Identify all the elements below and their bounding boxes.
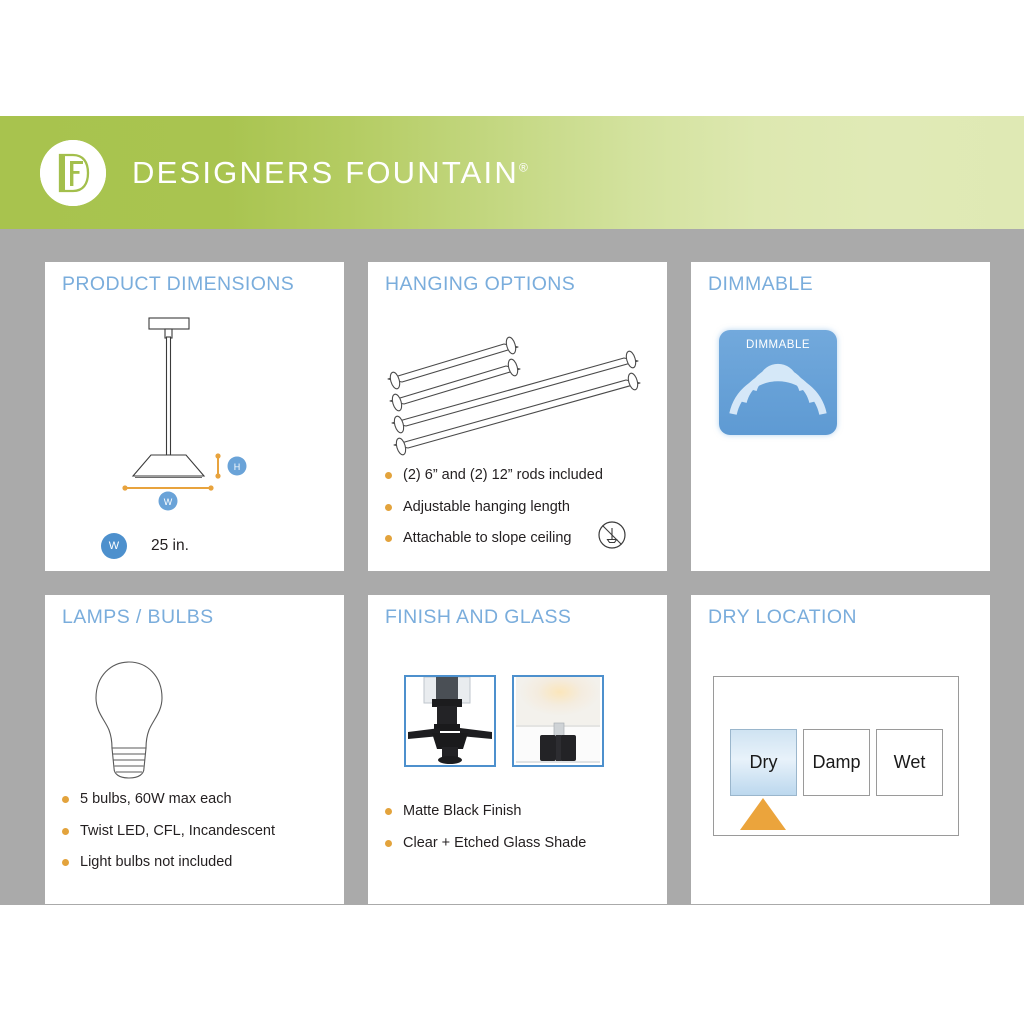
card-dry-location: DRY LOCATION Dry Damp Wet (691, 595, 990, 904)
brand-name-text: DESIGNERS FOUNTAIN (132, 155, 519, 190)
lamps-bullet-list: 5 bulbs, 60W max each Twist LED, CFL, In… (62, 791, 334, 886)
bullet-dot-icon (385, 808, 392, 815)
location-option-damp[interactable]: Damp (803, 729, 870, 796)
svg-text:H: H (234, 462, 241, 472)
card-title-dry-location: DRY LOCATION (708, 606, 857, 629)
card-title-lamps-bulbs: LAMPS / BULBS (62, 606, 214, 629)
location-option-row: Dry Damp Wet (730, 729, 943, 796)
width-badge: W (101, 533, 127, 559)
card-title-dimmable: DIMMABLE (708, 273, 813, 296)
list-item: 5 bulbs, 60W max each (62, 791, 334, 808)
bullet-text: Attachable to slope ceiling (403, 530, 571, 547)
list-item: Twist LED, CFL, Incandescent (62, 823, 334, 840)
width-value: 25 in. (151, 537, 189, 555)
bullet-dot-icon (62, 828, 69, 835)
bullet-dot-icon (62, 796, 69, 803)
spec-card-grid: PRODUCT DIMENSIONS (45, 262, 990, 904)
location-rating-box: Dry Damp Wet (713, 676, 959, 836)
dimmable-badge-icon: DIMMABLE (719, 330, 837, 435)
dimension-value-list: W 25 in. H 17 3/4 in. (101, 528, 215, 571)
location-option-wet[interactable]: Wet (876, 729, 943, 796)
bullet-text: Matte Black Finish (403, 803, 521, 820)
bullet-text: 5 bulbs, 60W max each (80, 791, 232, 808)
selected-location-pointer-icon (740, 798, 786, 830)
list-item: Light bulbs not included (62, 854, 334, 871)
card-dimmable: DIMMABLE DIMMABLE (691, 262, 990, 571)
bullet-text: Adjustable hanging length (403, 499, 570, 516)
card-title-finish-and-glass: FINISH AND GLASS (385, 606, 571, 629)
slope-ceiling-icon (597, 520, 627, 555)
list-item: Matte Black Finish (385, 803, 657, 820)
bullet-dot-icon (385, 472, 392, 479)
finish-thumbnail-group (404, 675, 604, 767)
bullet-dot-icon (385, 840, 392, 847)
light-bulb-illustration (45, 650, 344, 795)
card-title-product-dimensions: PRODUCT DIMENSIONS (62, 273, 294, 296)
bullet-text: (2) 6” and (2) 12” rods included (403, 467, 603, 484)
bullet-text: Light bulbs not included (80, 854, 232, 871)
svg-text:W: W (164, 497, 173, 507)
product-spec-sheet: DESIGNERS FOUNTAIN® PRODUCT DIMENSIONS (0, 0, 1024, 1024)
bullet-text: Twist LED, CFL, Incandescent (80, 823, 275, 840)
bullet-text: Clear + Etched Glass Shade (403, 835, 586, 852)
list-item: Clear + Etched Glass Shade (385, 835, 657, 852)
location-option-dry[interactable]: Dry (730, 729, 797, 796)
bullet-dot-icon (385, 535, 392, 542)
card-lamps-bulbs: LAMPS / BULBS (45, 595, 344, 904)
bullet-dot-icon (385, 504, 392, 511)
designers-fountain-logo-icon (40, 140, 106, 206)
pendant-dimension-diagram: H W (45, 304, 344, 519)
etched-glass-shade-thumbnail[interactable] (512, 675, 604, 767)
dimension-row-width: W 25 in. (101, 528, 215, 564)
bullet-dot-icon (62, 859, 69, 866)
registered-mark: ® (519, 160, 528, 174)
card-finish-and-glass: FINISH AND GLASS (368, 595, 667, 904)
finish-bullet-list: Matte Black Finish Clear + Etched Glass … (385, 803, 657, 866)
list-item: Adjustable hanging length (385, 499, 657, 516)
list-item: (2) 6” and (2) 12” rods included (385, 467, 657, 484)
downrods-illustration (368, 317, 667, 472)
brand-name: DESIGNERS FOUNTAIN® (132, 155, 528, 191)
card-title-hanging-options: HANGING OPTIONS (385, 273, 575, 296)
brand-header: DESIGNERS FOUNTAIN® (0, 116, 1024, 229)
spec-panel: PRODUCT DIMENSIONS (0, 229, 1024, 905)
card-hanging-options: HANGING OPTIONS (368, 262, 667, 571)
card-product-dimensions: PRODUCT DIMENSIONS (45, 262, 344, 571)
matte-black-hardware-thumbnail[interactable] (404, 675, 496, 767)
